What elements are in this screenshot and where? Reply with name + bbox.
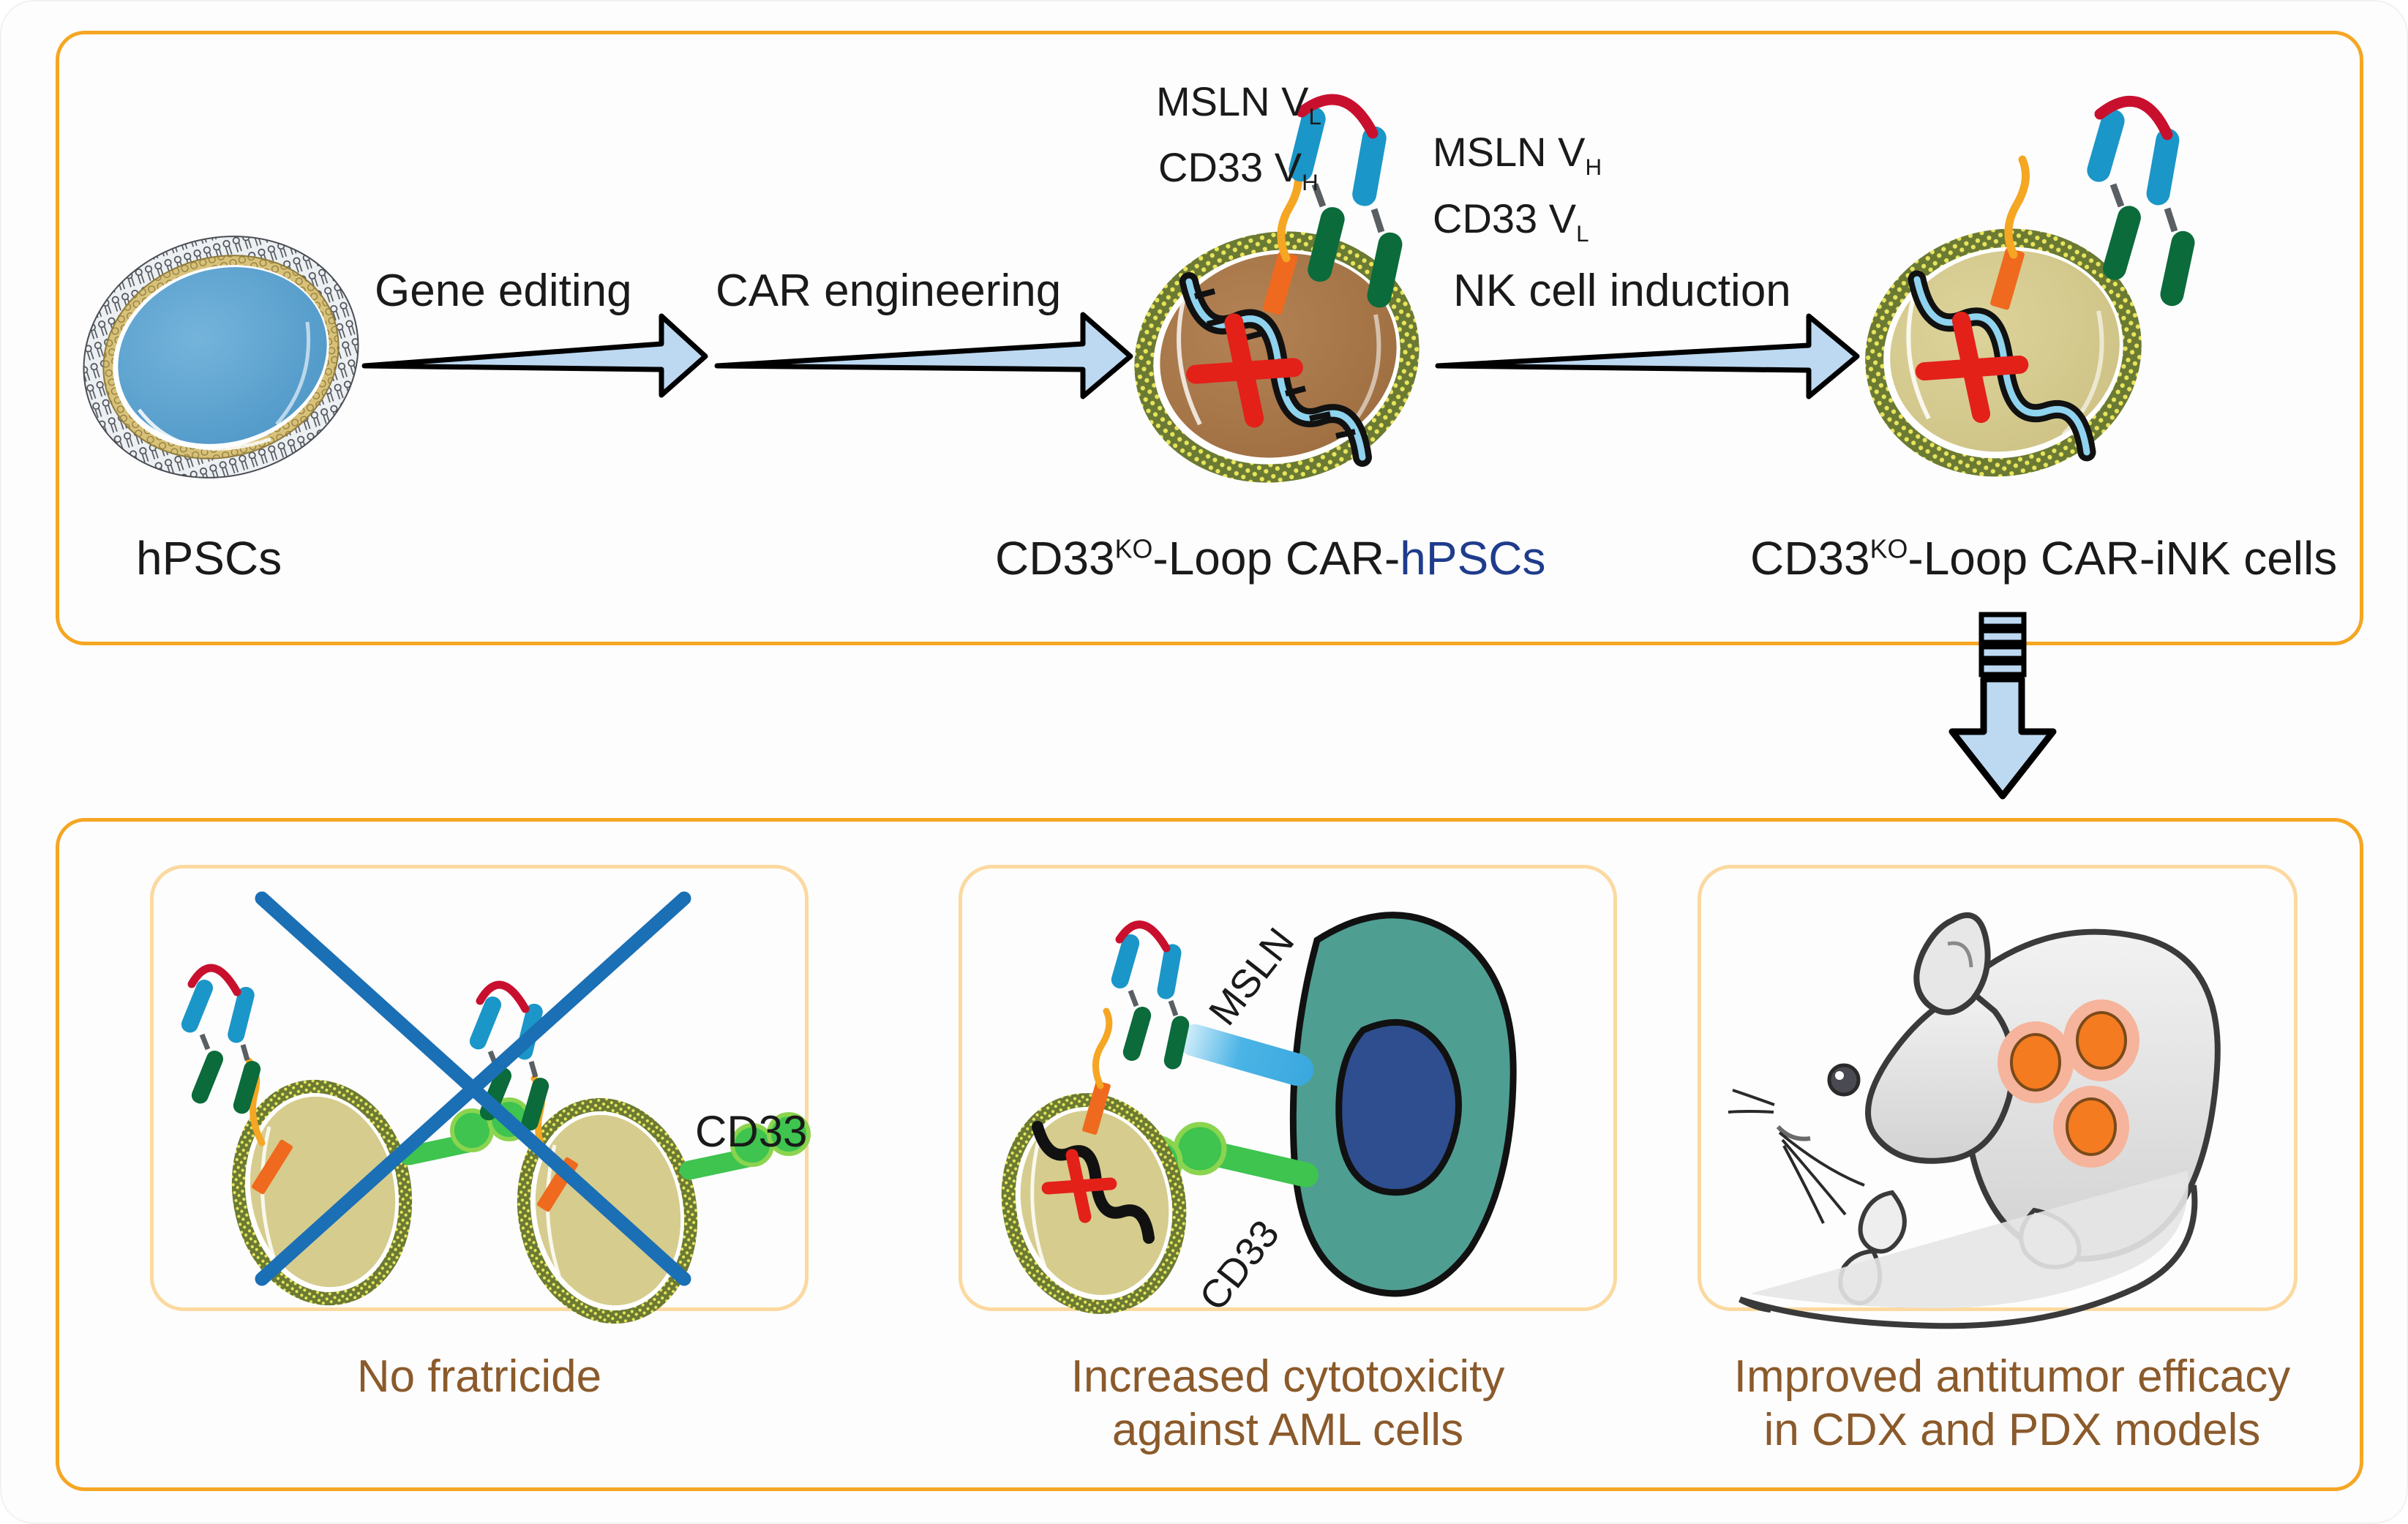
- car-label-msln-vh-text: MSLN V: [1433, 129, 1586, 175]
- caption-antitumor-line1: Improved antitumor efficacy: [1683, 1350, 2341, 1403]
- subpanel-no-fratricide: [150, 865, 809, 1311]
- car-label-cd33-vl-sub: L: [1576, 221, 1589, 247]
- step-label-nk-induction: NK cell induction: [1453, 265, 1791, 317]
- step-label-gene-editing: Gene editing: [375, 265, 632, 317]
- car-label-cd33-vl: CD33 VL: [1433, 195, 1589, 247]
- cell-label-ink-prefix: CD33: [1750, 532, 1870, 585]
- caption-no-fratricide: No fratricide: [150, 1350, 809, 1403]
- car-label-msln-vl-text: MSLN V: [1156, 78, 1309, 124]
- cell-label-edited-mid: -Loop CAR-: [1152, 532, 1400, 585]
- car-label-msln-vh: MSLN VH: [1433, 128, 1602, 181]
- caption-antitumor-efficacy: Improved antitumor efficacy in CDX and P…: [1683, 1350, 2341, 1457]
- caption-no-fratricide-line1: No fratricide: [150, 1350, 809, 1403]
- caption-cytotoxicity-line2: against AML cells: [959, 1403, 1617, 1457]
- car-label-msln-vl: MSLN VL: [1156, 78, 1321, 130]
- caption-cytotoxicity: Increased cytotoxicity against AML cells: [959, 1350, 1617, 1457]
- car-label-cd33-vl-text: CD33 V: [1433, 195, 1576, 241]
- caption-cytotoxicity-line1: Increased cytotoxicity: [959, 1350, 1617, 1403]
- subpanel-cytotoxicity: [959, 865, 1617, 1311]
- car-label-msln-vh-sub: H: [1586, 154, 1602, 180]
- cell-label-ink-mid: -Loop CAR-iNK cells: [1908, 532, 2337, 585]
- cell-label-ink: CD33KO-Loop CAR-iNK cells: [1750, 531, 2337, 585]
- caption-antitumor-line2: in CDX and PDX models: [1683, 1403, 2341, 1457]
- cell-label-edited-blue: hPSCs: [1400, 532, 1545, 585]
- step-label-car-engineering: CAR engineering: [716, 265, 1061, 317]
- cell-label-edited-prefix: CD33: [995, 532, 1115, 585]
- car-label-cd33-vh-text: CD33 V: [1158, 144, 1302, 190]
- car-label-cd33-vh-sub: H: [1302, 170, 1319, 195]
- cd33-inline-label: CD33: [695, 1106, 807, 1157]
- subpanel-mouse-model: [1698, 865, 2298, 1311]
- cell-label-edited-hpscs: CD33KO-Loop CAR-hPSCs: [995, 531, 1545, 585]
- cell-label-hpscs: hPSCs: [136, 531, 282, 585]
- cell-label-ink-sup: KO: [1870, 535, 1908, 564]
- cell-label-edited-sup: KO: [1115, 535, 1153, 564]
- car-label-msln-vl-sub: L: [1309, 104, 1321, 129]
- car-label-cd33-vh: CD33 VH: [1158, 143, 1319, 196]
